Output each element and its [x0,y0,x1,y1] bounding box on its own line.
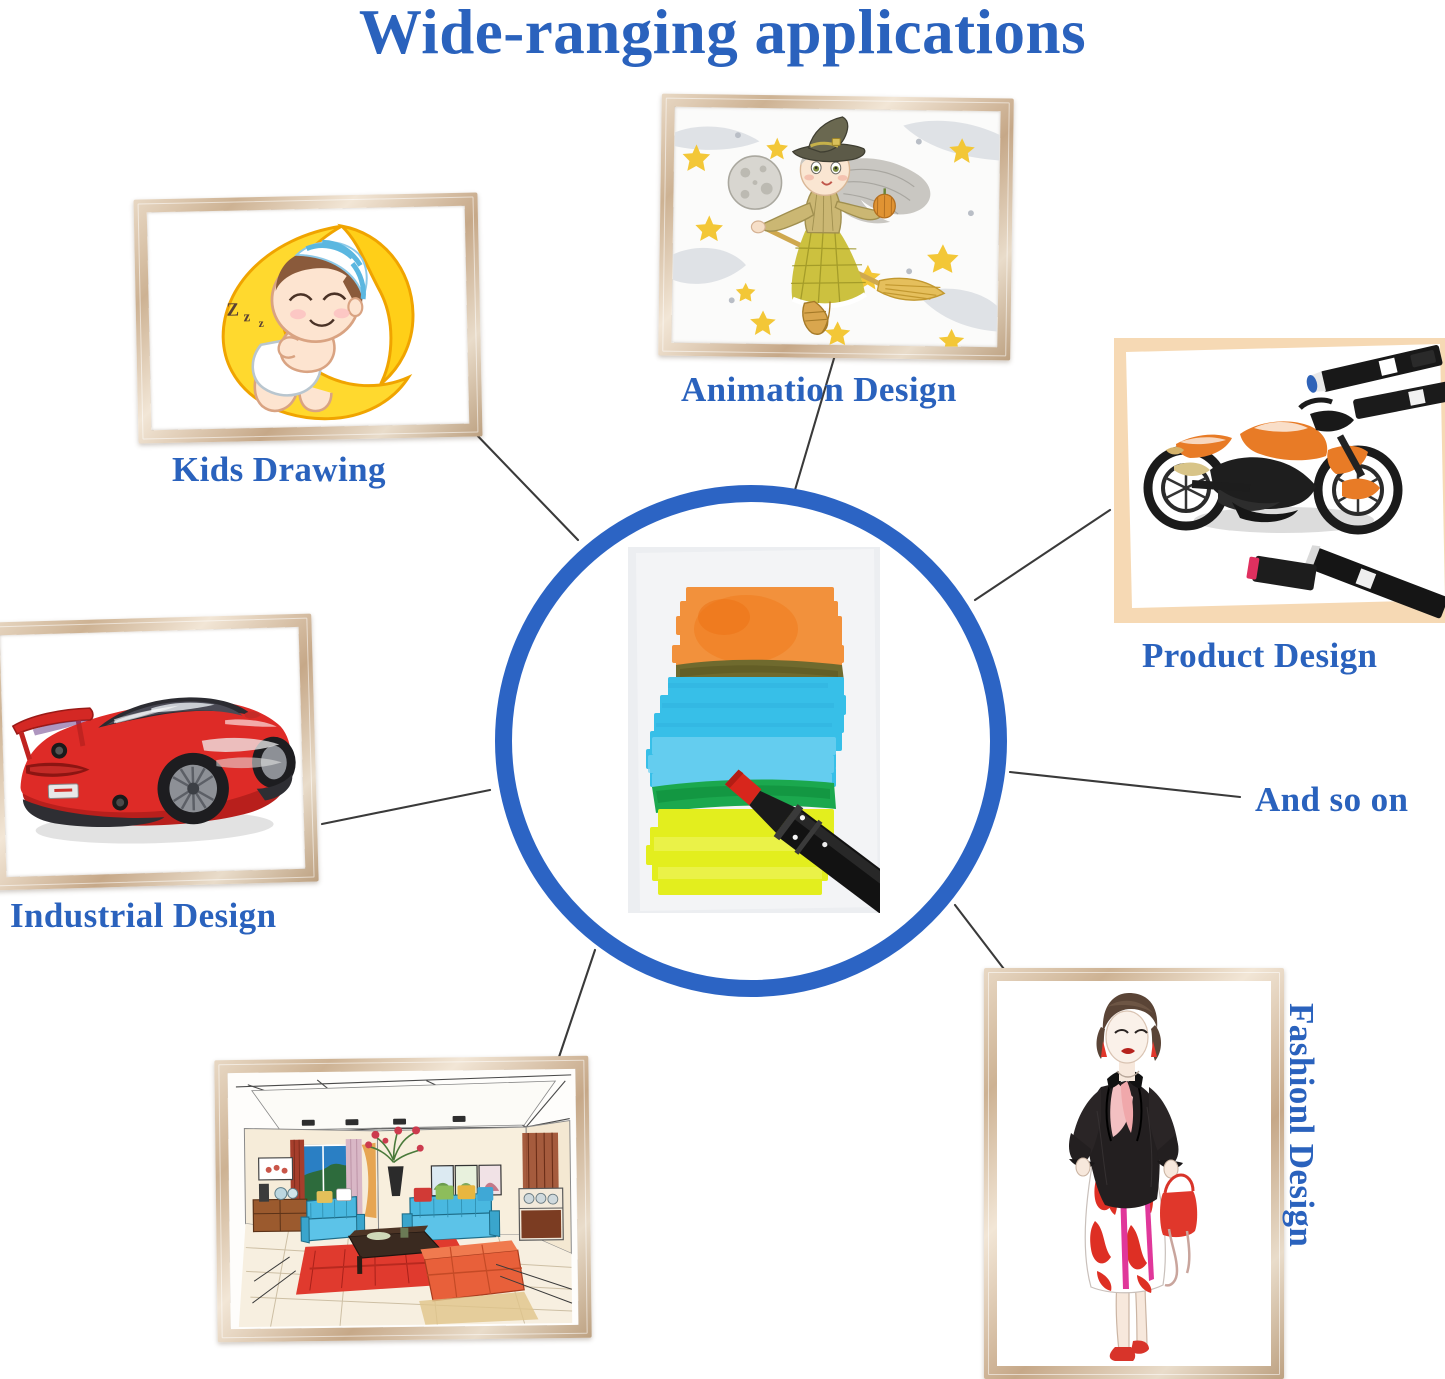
artwork-animation-design [671,107,1000,348]
center-marker-swatch-photo [628,547,880,913]
connector-product-design [975,510,1110,600]
artwork-interior-design [227,1069,578,1329]
connector-kids-drawing [472,430,578,540]
artwork-fashion-design [997,981,1271,1366]
infographic-canvas: Wide-ranging applications [0,0,1445,1379]
svg-text:Z: Z [226,299,239,320]
motorcycle-marker-sketch-illustration [1114,338,1445,623]
fashion-figure-illustration [997,981,1271,1366]
caption-kids-drawing: Kids Drawing [172,450,386,490]
frame-kids-drawing: Z z z [133,192,482,443]
artwork-product-design [1114,338,1445,623]
interior-living-room-sketch-illustration [227,1069,578,1329]
caption-industrial-design: Industrial Design [10,896,276,936]
frame-fashion-design [984,968,1284,1379]
artwork-kids-drawing: Z z z [147,206,469,431]
frame-interior-design [214,1056,591,1343]
witch-girl-on-broom-illustration [671,107,1000,348]
caption-product-design: Product Design [1142,636,1377,676]
frame-animation-design [658,94,1014,361]
frame-industrial-design [0,614,319,891]
caption-animation-design: Animation Design [681,370,957,410]
svg-text:z: z [243,309,250,325]
red-sports-car-sketch-illustration [0,627,305,877]
sleeping-baby-on-moon-illustration: Z z z [147,206,469,431]
artwork-industrial-design [0,627,305,877]
caption-and-so-on: And so on [1255,780,1408,820]
marker-swatch-artwork [628,547,880,913]
connector-and-so-on [1010,772,1240,797]
connector-interior-design [558,950,595,1060]
caption-fashion-design: Fashionl Design [1281,1003,1321,1247]
connector-industrial-design [322,790,490,824]
page-title: Wide-ranging applications [0,0,1445,69]
